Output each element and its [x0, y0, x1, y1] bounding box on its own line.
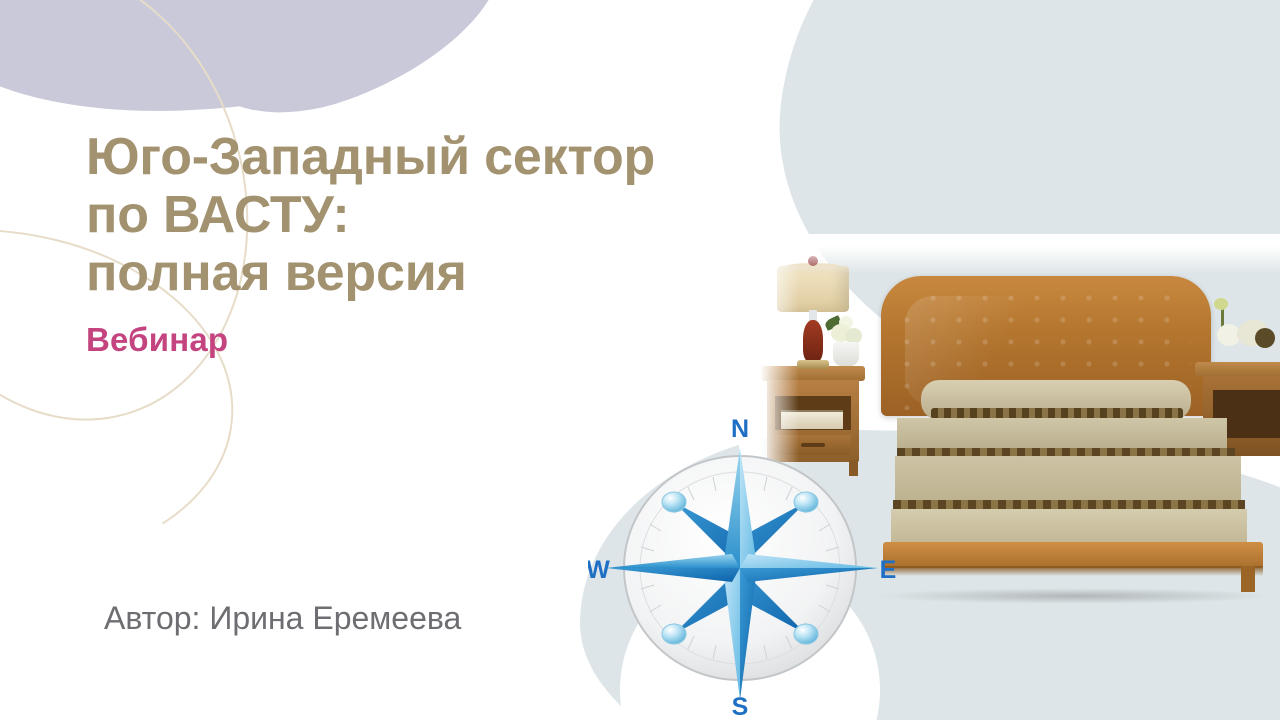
- compass-label-east: E: [880, 556, 897, 584]
- bed-blanket-top: [897, 418, 1227, 452]
- compass-label-north: N: [731, 415, 749, 443]
- flower-bud-right: [1214, 298, 1228, 310]
- compass-rose-icon: N E S W: [588, 408, 908, 720]
- decorative-blob-purple: [0, 0, 459, 128]
- compass-label-west: W: [588, 556, 610, 584]
- nightstand-right-top: [1195, 362, 1280, 376]
- flower-right-c: [1255, 328, 1275, 348]
- bed-blanket-middle: [895, 456, 1241, 502]
- compass-label-south: S: [732, 693, 749, 720]
- floor-shadow: [875, 588, 1275, 604]
- author-credit: Автор: Ирина Еремеева: [104, 600, 461, 637]
- slide-subtitle: Вебинар: [86, 321, 846, 359]
- title-block: Юго-Западный сектор по ВАСТУ: полная вер…: [86, 128, 846, 359]
- bed-rail-shadow: [883, 566, 1263, 576]
- lamp-base: [797, 360, 829, 369]
- bed-side-rail: [883, 542, 1263, 568]
- slide-canvas: N E S W Юго-Западный сектор по ВАСТУ: по…: [0, 0, 1280, 720]
- page-title: Юго-Западный сектор по ВАСТУ: полная вер…: [86, 128, 846, 303]
